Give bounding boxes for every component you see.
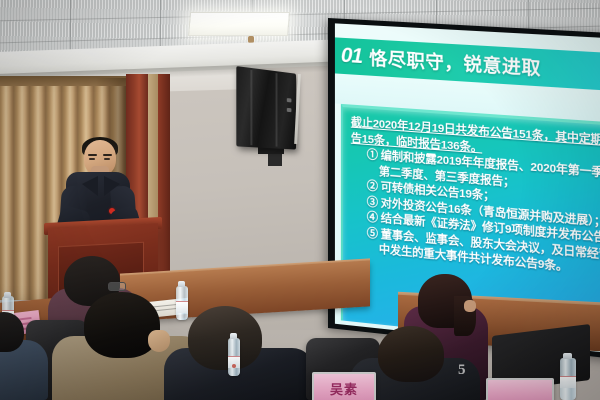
water-bottle (560, 358, 576, 400)
speaker-indicator (287, 98, 292, 102)
chair-number: 5 (458, 362, 466, 379)
bottle-logo-icon (232, 364, 236, 368)
bottle-cap (563, 353, 572, 359)
presenter-eye (89, 158, 95, 160)
presenter-eyebrow (88, 154, 97, 156)
bottle-cap (4, 292, 11, 298)
slide-section-number: 01 (341, 44, 362, 69)
attendee-head (378, 326, 444, 382)
wall-speaker-icon (236, 66, 296, 149)
attendee-ear (148, 330, 170, 352)
slide-header-title: 恪尽职守，锐意进取 (369, 44, 541, 81)
bottle-cap (178, 281, 185, 287)
bottle-label (176, 301, 188, 313)
speaker-seam (276, 73, 278, 146)
conference-room-photo: 01 恪尽职守，锐意进取 截止2020年12月19日共发布公告151条，其中定期… (0, 0, 600, 400)
glasses-icon (108, 282, 126, 291)
presenter-eyebrow (103, 154, 112, 156)
ceiling-light (188, 12, 290, 36)
attendee-head (188, 306, 262, 370)
water-bottle (176, 286, 188, 320)
placard-name: 吴素 (330, 379, 358, 398)
water-bottle (228, 338, 240, 376)
speaker-indicator (287, 108, 292, 112)
attendee-hand (464, 300, 476, 312)
bottle-cap (230, 333, 237, 339)
speaker-seam (250, 70, 252, 145)
attendee-head (84, 292, 160, 358)
bottle-label (560, 376, 576, 388)
presenter-eye (104, 158, 110, 160)
name-placard (486, 378, 554, 400)
name-placard: 吴素 (312, 372, 376, 400)
